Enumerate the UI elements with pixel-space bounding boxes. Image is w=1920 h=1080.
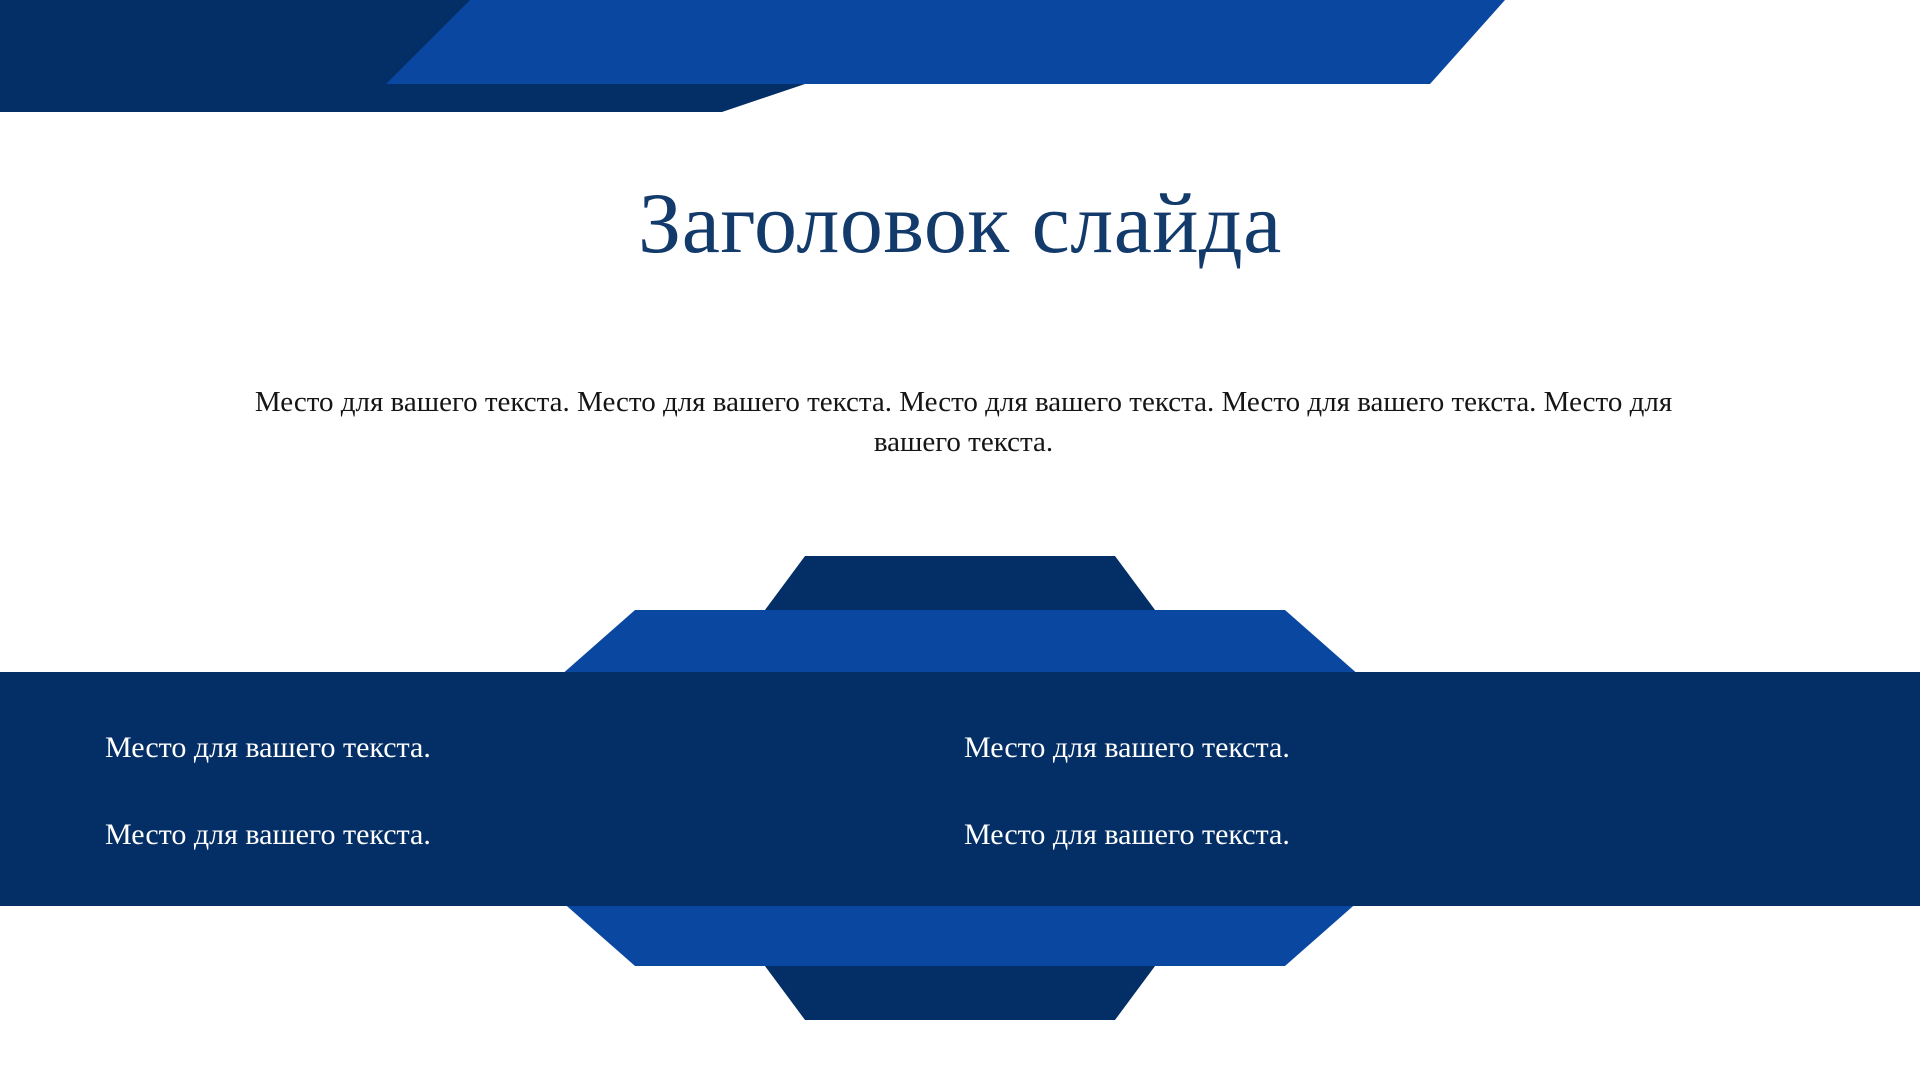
slide-canvas: Заголовок слайда Место для вашего текста… <box>0 0 1920 1080</box>
top-ribbon-navy-lower-shape <box>0 0 805 112</box>
bottom-band-content: Место для вашего текста. Место для вашег… <box>0 672 1920 906</box>
page-title: Заголовок слайда <box>0 178 1920 268</box>
band-text-item: Место для вашего текста. <box>105 817 431 853</box>
bottom-band-right-column: Место для вашего текста. Место для вашег… <box>960 672 1920 906</box>
body-paragraph: Место для вашего текста. Место для вашег… <box>230 382 1697 462</box>
band-text-item: Место для вашего текста. <box>964 730 1290 766</box>
bottom-band-left-column: Место для вашего текста. Место для вашег… <box>0 672 960 906</box>
top-ribbon-navy-shape <box>0 0 1060 85</box>
band-text-item: Место для вашего текста. <box>964 817 1290 853</box>
top-banner-decoration <box>0 0 1920 140</box>
band-text-item: Место для вашего текста. <box>105 730 431 766</box>
top-ribbon-blue-shape <box>380 0 1505 84</box>
